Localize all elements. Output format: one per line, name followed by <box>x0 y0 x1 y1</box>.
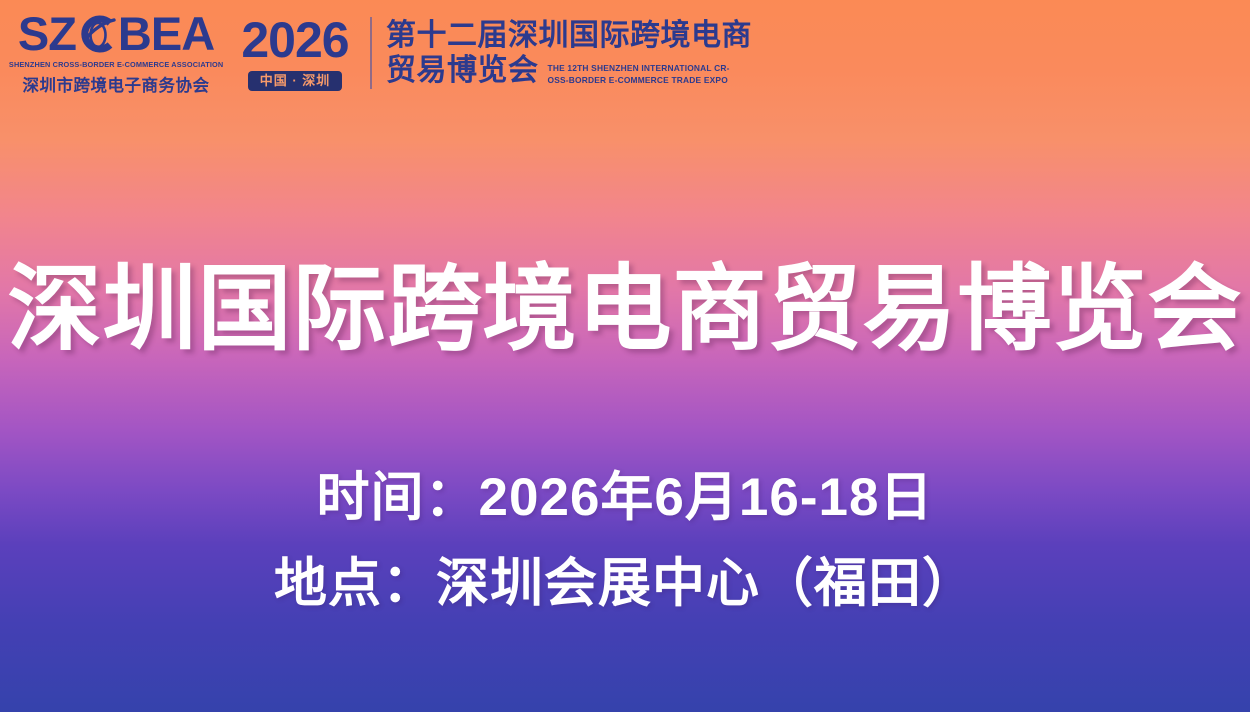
expo-english-line-2: OSS-BORDER E-COMMERCE TRADE EXPO <box>548 74 730 86</box>
association-chinese-name: 深圳市跨境电子商务协会 <box>23 72 210 96</box>
association-logo: SZ BEA SHENZHEN CROSS-BORDER E-COMMERCE … <box>18 10 214 96</box>
year-number: 2026 <box>241 15 348 65</box>
event-info-block: 时间：2026年6月16-18日 地点：深圳会展中心（福田） <box>0 455 1250 627</box>
year-block: 2026 中国 · 深圳 <box>236 15 354 91</box>
expo-name-row-2: 贸易博览会 THE 12TH SHENZHEN INTERNATIONAL CR… <box>386 53 752 88</box>
association-english-name: SHENZHEN CROSS-BORDER E-COMMERCE ASSOCIA… <box>9 60 223 69</box>
event-date-line: 时间：2026年6月16-18日 <box>0 455 1250 541</box>
event-promo-banner: SZ BEA SHENZHEN CROSS-BORDER E-COMMERCE … <box>0 0 1250 712</box>
event-venue-line: 地点：深圳会展中心（福田） <box>0 541 1250 627</box>
wordmark-right-text: BEA <box>118 10 214 57</box>
banner-header: SZ BEA SHENZHEN CROSS-BORDER E-COMMERCE … <box>0 0 1250 106</box>
header-divider <box>370 17 372 89</box>
expo-english-name: THE 12TH SHENZHEN INTERNATIONAL CR- OSS-… <box>548 62 730 86</box>
wordmark-left-text: SZ <box>18 10 76 57</box>
location-badge: 中国 · 深圳 <box>248 71 343 91</box>
globe-c-icon <box>77 13 117 55</box>
expo-english-line-1: THE 12TH SHENZHEN INTERNATIONAL CR- <box>548 62 730 74</box>
association-wordmark: SZ BEA <box>18 10 214 57</box>
expo-chinese-line-2: 贸易博览会 <box>386 53 539 88</box>
page-title: 深圳国际跨境电商贸易博览会 <box>0 258 1250 360</box>
expo-chinese-line-1: 第十二届深圳国际跨境电商 <box>386 18 752 53</box>
expo-name-block: 第十二届深圳国际跨境电商 贸易博览会 THE 12TH SHENZHEN INT… <box>386 18 752 89</box>
